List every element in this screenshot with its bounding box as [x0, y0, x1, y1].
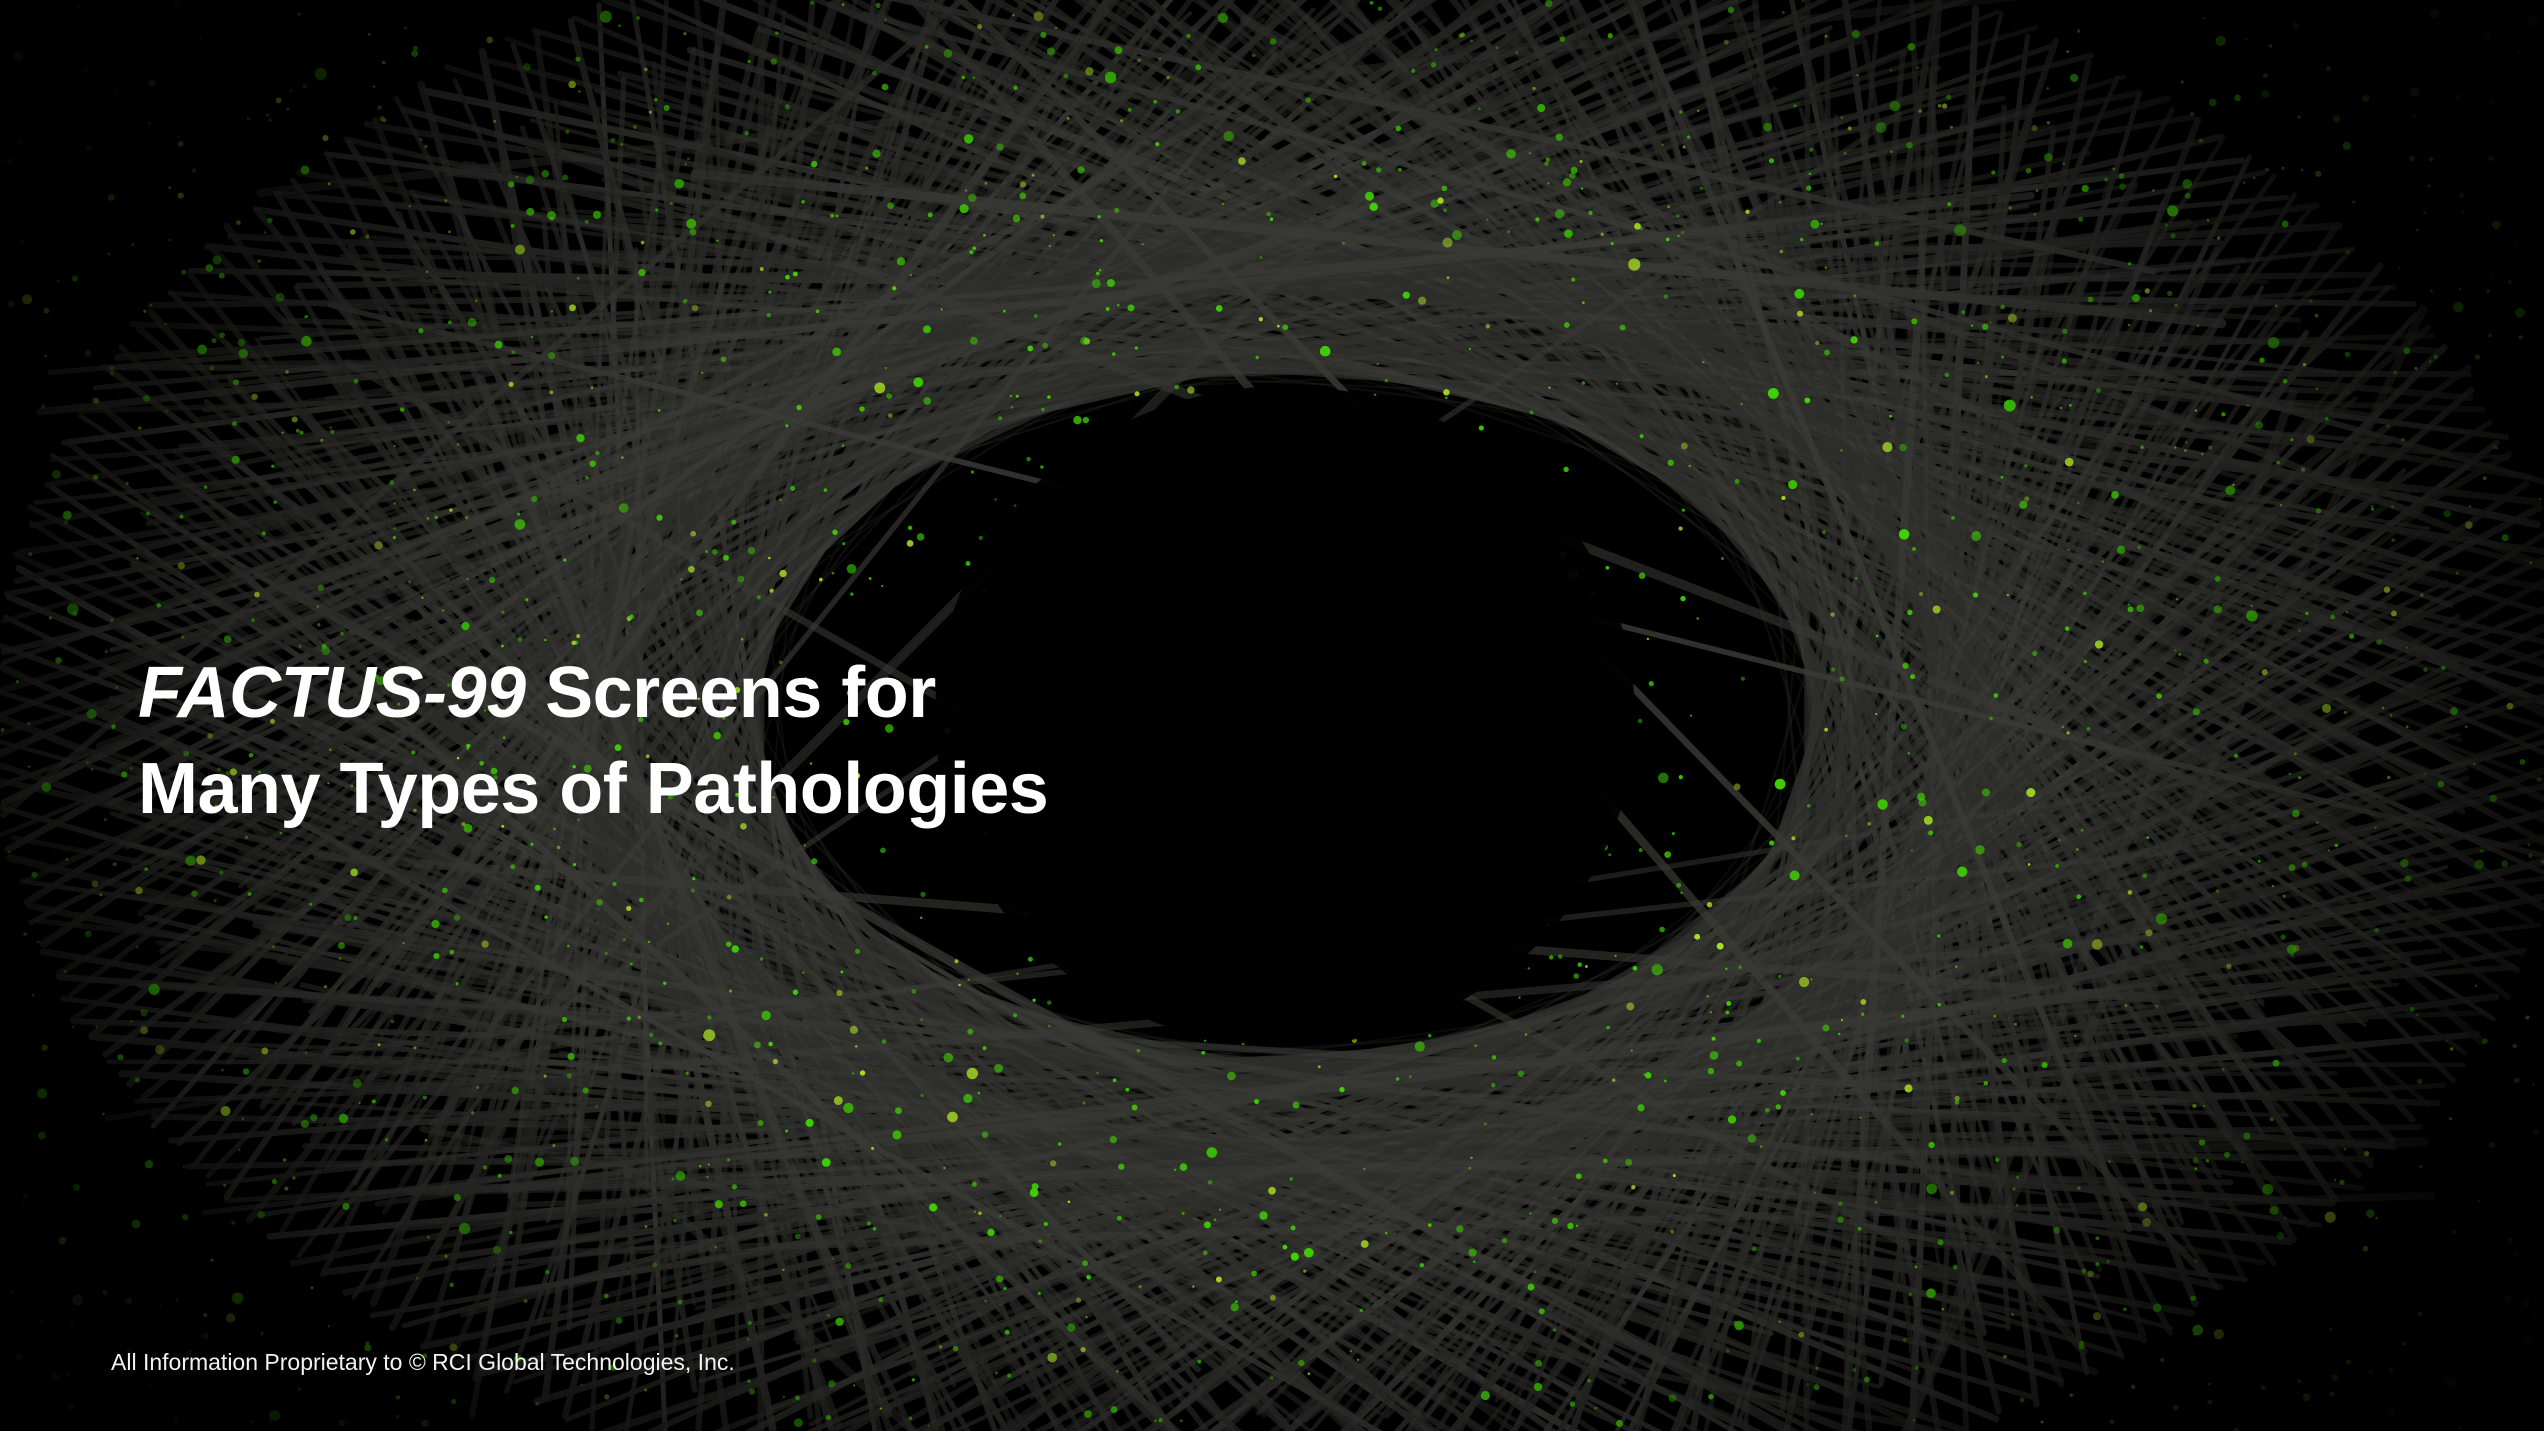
slide-canvas: FACTUS-99 Screens for Many Types of Path…	[0, 0, 2544, 1431]
page-title: FACTUS-99 Screens for Many Types of Path…	[138, 645, 1048, 837]
title-line-1: FACTUS-99 Screens for	[138, 645, 1048, 741]
title-product-name: FACTUS-99	[138, 653, 526, 733]
title-line-2: Many Types of Pathologies	[138, 741, 1048, 837]
copyright-footer: All Information Proprietary to © RCI Glo…	[111, 1348, 735, 1376]
title-line-1-rest: Screens for	[526, 653, 936, 733]
